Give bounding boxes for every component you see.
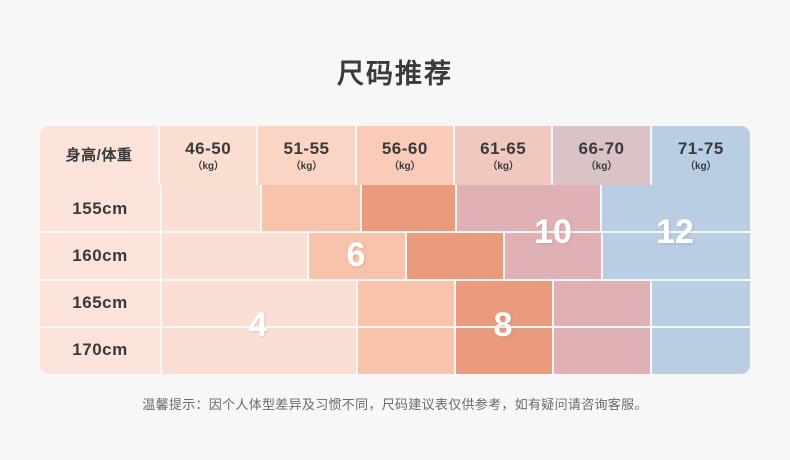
label-column-divider: [160, 185, 162, 374]
size-block-12: [650, 327, 750, 374]
row-label-155cm: 155cm: [40, 185, 160, 232]
size-block-4: [160, 232, 307, 279]
size-block-4: [160, 327, 356, 374]
header-weight-range: 61-65: [480, 139, 526, 159]
header-weight-range: 51-55: [284, 139, 330, 159]
size-block-12: [601, 232, 750, 279]
size-block-10: [455, 185, 600, 232]
size-chart-page: 尺码推荐 身高/体重46-50（kg）51-55（kg）56-60（kg）61-…: [0, 0, 790, 460]
size-block-8: [454, 280, 552, 327]
size-block-8: [405, 232, 503, 279]
header-weight-unit: （kg）: [586, 160, 618, 173]
header-weight-unit: （kg）: [291, 160, 323, 173]
header-weight-range: 71-75: [678, 139, 724, 159]
row-divider: [40, 279, 750, 281]
cell-divider: [600, 185, 602, 232]
size-block-4: [160, 280, 356, 327]
size-block-12: [600, 185, 750, 232]
cell-divider: [260, 185, 262, 232]
size-block-6: [356, 327, 454, 374]
header-cell-weight-56-60: 56-60（kg）: [357, 126, 455, 185]
size-block-8: [454, 327, 552, 374]
header-weight-range: 46-50: [185, 139, 231, 159]
size-block-6: [356, 280, 454, 327]
cell-divider: [650, 327, 652, 374]
table-body: 155cm160cm165cm170cm: [40, 185, 750, 374]
cell-divider: [405, 232, 407, 279]
size-block-10: [552, 280, 650, 327]
header-cell-weight-46-50: 46-50（kg）: [160, 126, 258, 185]
row-label-160cm: 160cm: [40, 232, 160, 279]
header-weight-unit: （kg）: [389, 160, 421, 173]
header-cell-weight-51-55: 51-55（kg）: [258, 126, 356, 185]
size-block-12: [650, 280, 750, 327]
header-cell-weight-66-70: 66-70（kg）: [553, 126, 651, 185]
page-title: 尺码推荐: [0, 57, 790, 91]
cell-divider: [455, 185, 457, 232]
row-label-170cm: 170cm: [40, 327, 160, 374]
header-weight-range: 56-60: [382, 139, 428, 159]
row-divider: [40, 326, 750, 328]
cell-divider: [454, 327, 456, 374]
header-weight-range: 66-70: [579, 139, 625, 159]
cell-divider: [552, 327, 554, 374]
size-recommendation-table: 身高/体重46-50（kg）51-55（kg）56-60（kg）61-65（kg…: [40, 126, 750, 374]
size-block-6: [260, 185, 360, 232]
cell-divider: [454, 280, 456, 327]
cell-divider: [503, 232, 505, 279]
size-block-10: [552, 327, 650, 374]
header-cell-weight-71-75: 71-75（kg）: [652, 126, 750, 185]
header-cell-weight-61-65: 61-65（kg）: [455, 126, 553, 185]
size-block-10: [503, 232, 601, 279]
header-weight-unit: （kg）: [487, 160, 519, 173]
row-divider: [40, 231, 750, 233]
cell-divider: [356, 280, 358, 327]
cell-divider: [552, 280, 554, 327]
size-block-4: [160, 185, 260, 232]
cell-divider: [307, 232, 309, 279]
cell-divider: [356, 327, 358, 374]
row-label-165cm: 165cm: [40, 280, 160, 327]
header-weight-unit: （kg）: [685, 160, 717, 173]
size-block-6: [307, 232, 405, 279]
header-cell-corner: 身高/体重: [40, 126, 160, 185]
cell-divider: [360, 185, 362, 232]
footer-note: 温馨提示：因个人体型差异及习惯不同，尺码建议表仅供参考，如有疑问请咨询客服。: [0, 396, 790, 414]
cell-divider: [650, 280, 652, 327]
size-block-8: [360, 185, 455, 232]
cell-divider: [601, 232, 603, 279]
corner-label: 身高/体重: [66, 146, 133, 166]
table-header-row: 身高/体重46-50（kg）51-55（kg）56-60（kg）61-65（kg…: [40, 126, 750, 185]
header-weight-unit: （kg）: [192, 160, 224, 173]
